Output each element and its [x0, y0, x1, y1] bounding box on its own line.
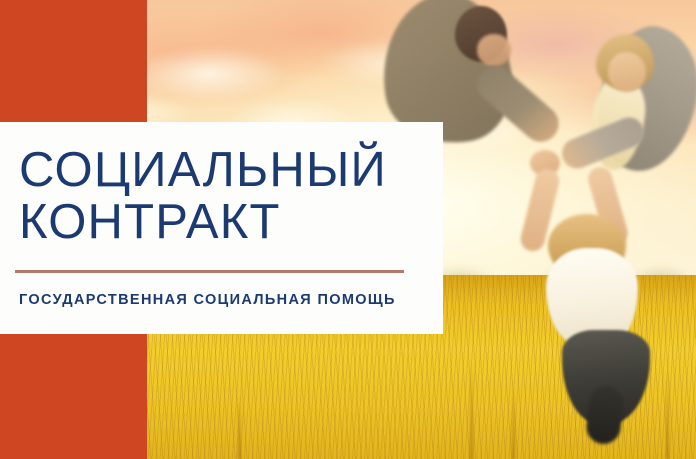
woman-face	[608, 52, 646, 92]
wheat-stalk	[512, 387, 515, 459]
headline-line-2: КОНТРАКТ	[19, 196, 443, 248]
divider	[15, 270, 404, 273]
page-title: СОЦИАЛЬНЫЙ КОНТРАКТ	[19, 144, 443, 248]
wheat-stalk	[470, 363, 473, 459]
wheat-stalk	[238, 395, 241, 459]
wheat-stalk	[666, 371, 669, 459]
headline-line-1: СОЦИАЛЬНЫЙ	[19, 143, 387, 197]
poster: СОЦИАЛЬНЫЙ КОНТРАКТ ГОСУДАРСТВЕННАЯ СОЦИ…	[0, 0, 696, 459]
man-face	[477, 34, 511, 66]
headline-card: СОЦИАЛЬНЫЙ КОНТРАКТ ГОСУДАРСТВЕННАЯ СОЦИ…	[0, 122, 443, 334]
subtitle: ГОСУДАРСТВЕННАЯ СОЦИАЛЬНАЯ ПОМОЩЬ	[19, 292, 443, 308]
